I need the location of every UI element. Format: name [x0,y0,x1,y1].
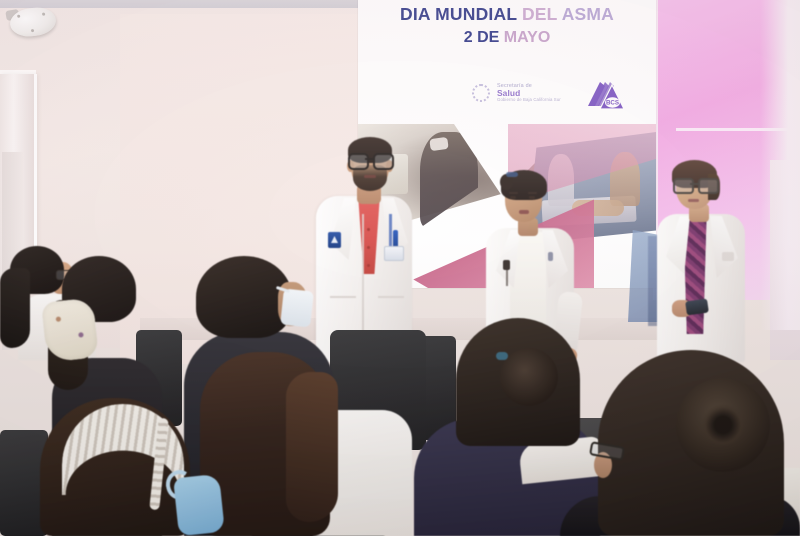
bolsillo-derecho [378,296,404,298]
title-soft-asma: ASMA [562,4,614,24]
boca [364,175,376,178]
microfono-solapa-icon [503,260,510,270]
gov-logo-text: Secretaría de Salud Gobierno de Baja Cal… [497,84,561,103]
page-subtitle: 2 DE MAYO [358,28,656,48]
subtitle-soft: MAYO [504,29,551,46]
chongo [500,348,558,406]
seal-circle-icon [470,82,492,104]
subtitle-strong: 2 DE [464,29,500,46]
gafete [722,252,734,261]
lentes-icon [348,153,392,166]
title-soft-del: DEL [522,4,557,24]
screen-title-block: DIA MUNDIAL DEL ASMA 2 DE MAYO [358,4,656,48]
credencial [384,246,404,261]
liga-de-cabello [496,352,508,360]
coleta [0,268,30,348]
gov-line3: Gobierno de Baja California Sur [497,98,561,103]
wall-right-highlight [760,0,800,330]
mechon-ondulado [286,372,338,522]
triangle-chevron-icon: BCS [586,80,626,114]
remolino-chongo [702,404,744,446]
lentes-icon [673,178,717,190]
bcs-logo-text: BCS [606,100,619,107]
logo-secretaria-de-salud: Secretaría de Salud Gobierno de Baja Cal… [470,82,561,104]
boca [688,199,699,202]
page-title: DIA MUNDIAL DEL ASMA [358,4,656,26]
logo-bcs: BCS [586,80,626,114]
logo-row: Secretaría de Salud Gobierno de Baja Cal… [358,78,656,120]
cubrebocas-blanco [280,289,314,328]
cable-microfono [506,270,508,286]
cordon-gafete [389,214,392,248]
liga-de-cabello [506,172,518,177]
prendedor [548,252,553,261]
title-strong: DIA MUNDIAL [400,4,517,24]
boca [519,210,529,214]
event-photo-scene: DIA MUNDIAL DEL ASMA 2 DE MAYO Secretarí… [0,0,800,536]
cubrebocas-azul [173,474,225,536]
gafete [328,232,341,248]
bolsillo-izquierdo [330,296,356,298]
